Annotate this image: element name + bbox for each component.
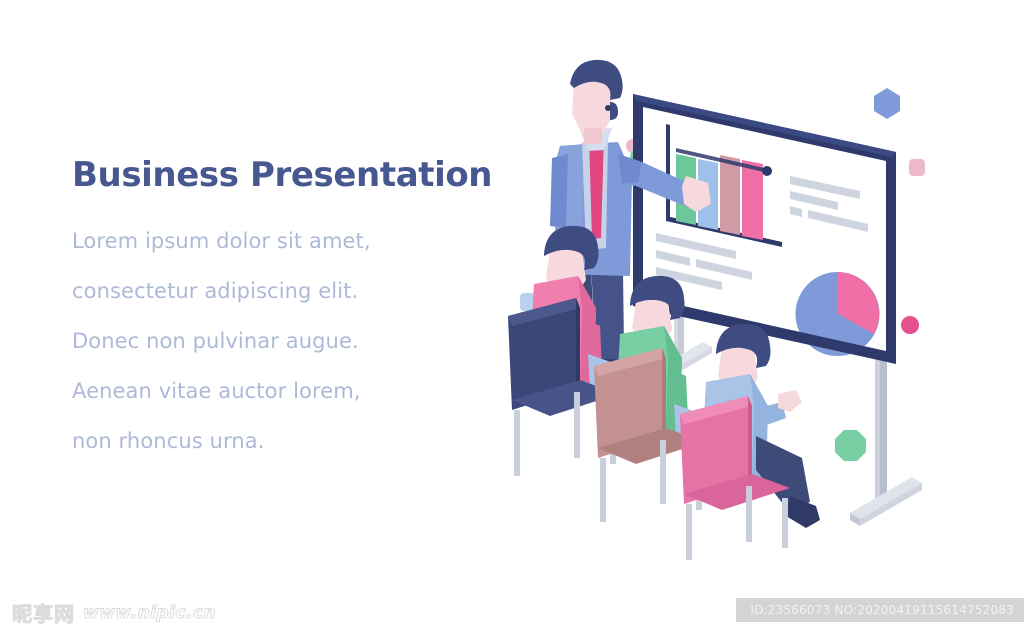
illustration-canvas: Business Presentation Lorem ipsum dolor … xyxy=(0,0,1024,638)
bar-3 xyxy=(720,155,740,235)
nipic-logo: 昵享网 www.nipic.cn xyxy=(12,598,216,627)
paragraph-lines: Lorem ipsum dolor sit amet, consectetur … xyxy=(72,216,512,466)
paragraph-line: Lorem ipsum dolor sit amet, xyxy=(72,216,512,266)
paragraph-line: non rhoncus urna. xyxy=(72,416,512,466)
audience-3-hand xyxy=(778,390,802,412)
nipic-logo-cn: 昵享网 xyxy=(12,598,75,627)
business-presentation-illustration xyxy=(490,58,1024,568)
magenta-dot-icon xyxy=(901,316,919,334)
bar-4 xyxy=(742,160,763,240)
text-block: Business Presentation Lorem ipsum dolor … xyxy=(72,158,512,466)
page-title: Business Presentation xyxy=(72,158,512,194)
watermark-id-badge: ID:23566073 NO:20200419115614752083 xyxy=(736,598,1024,622)
watermark-bar: 昵享网 www.nipic.cn ID:23566073 NO:20200419… xyxy=(0,590,1024,638)
nipic-logo-url: www.nipic.cn xyxy=(83,603,216,623)
paragraph-line: Donec non pulvinar augue. xyxy=(72,316,512,366)
paragraph-line: Aenean vitae auctor lorem, xyxy=(72,366,512,416)
green-octagon-icon xyxy=(835,430,866,461)
paragraph-line: consectetur adipiscing elit. xyxy=(72,266,512,316)
light-pink-square-icon xyxy=(909,159,925,176)
blue-hexagon-icon xyxy=(874,88,900,119)
